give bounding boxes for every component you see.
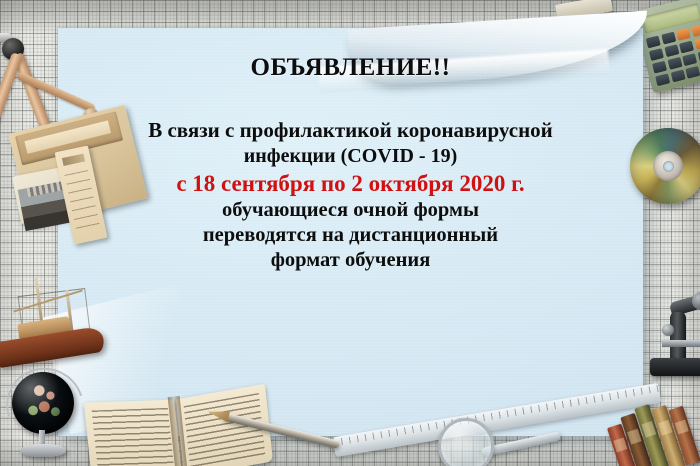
magnifier-lens [438, 418, 494, 466]
microscope-stage [662, 340, 700, 347]
body-line-2: инфекции (COVID - 19) [148, 144, 553, 168]
pen-nib [206, 406, 230, 422]
disc-center-hole [663, 161, 674, 172]
magnifying-glass-icon [438, 418, 558, 466]
body-line-1: В связи с профилактикой коронавирусной [148, 118, 553, 144]
body-line-4: обучающиеся очной формы [148, 198, 553, 223]
compact-disc-icon [630, 128, 700, 204]
globe-icon [6, 368, 80, 460]
announcement-body: В связи с профилактикой коронавирусной и… [148, 118, 553, 273]
page-title: ОБЪЯВЛЕНИЕ!! [251, 54, 451, 82]
body-line-5: переводятся на дистанционный [148, 223, 553, 248]
microscope-arm [670, 312, 686, 364]
model-sailing-ship-icon [0, 276, 114, 372]
book-page-left [84, 400, 182, 466]
announcement-text-area: ОБЪЯВЛЕНИЕ!! В связи с профилактикой кор… [58, 28, 643, 436]
date-range-highlight: с 18 сентября по 2 октября 2020 г. [148, 170, 553, 198]
calculator-keys [646, 24, 700, 86]
microscope-focus-knob [662, 324, 674, 336]
globe-base [20, 444, 66, 457]
announcement-poster: ОБЪЯВЛЕНИЕ!! В связи с профилактикой кор… [0, 0, 700, 466]
microscope-icon [648, 296, 700, 382]
microscope-base [650, 358, 700, 376]
body-line-6: формат обучения [148, 248, 553, 273]
